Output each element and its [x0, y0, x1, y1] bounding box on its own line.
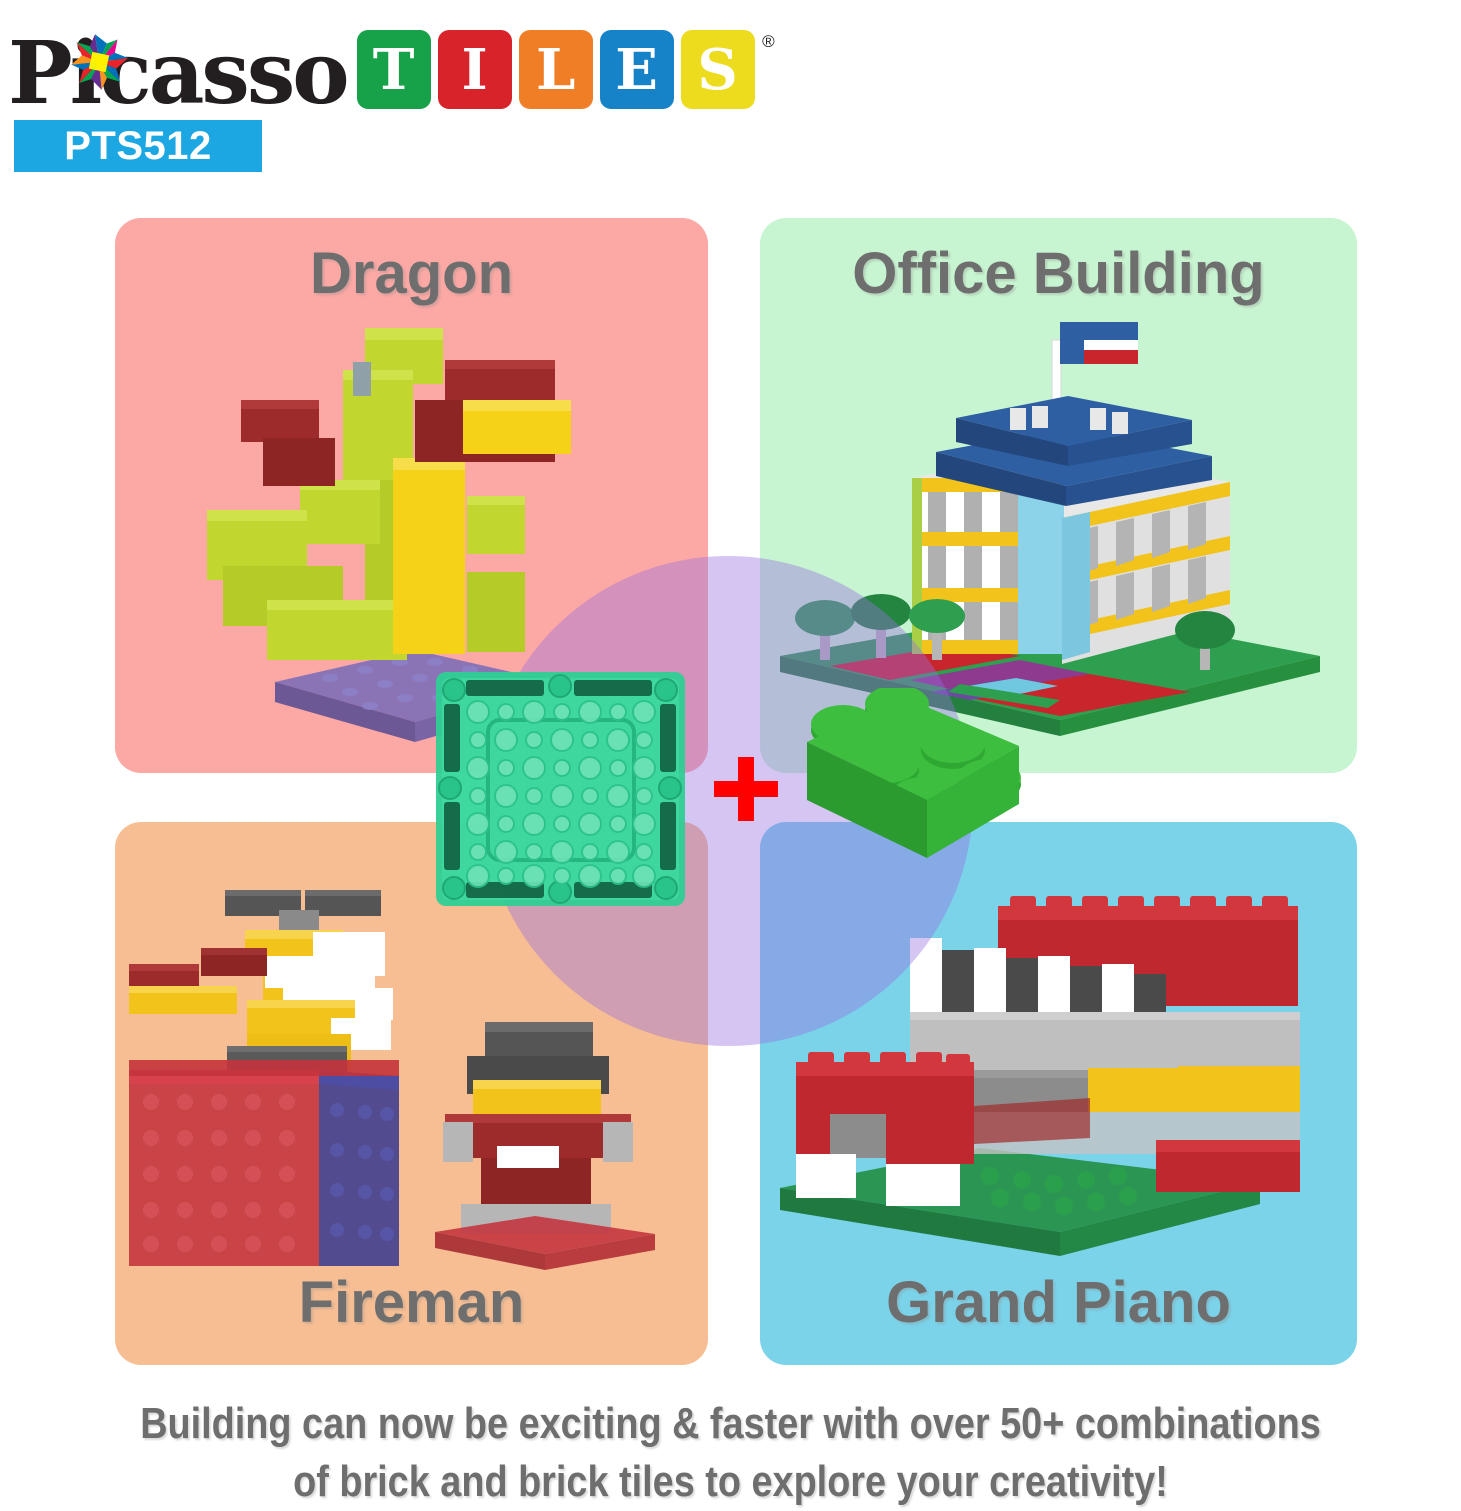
- tile-block-t: T: [357, 30, 431, 109]
- tile-letter-l: L: [536, 42, 575, 98]
- panel-office-building-label: Office Building: [760, 244, 1357, 304]
- tile-block-i: I: [438, 30, 512, 109]
- panel-grand-piano-label: Grand Piano: [760, 1273, 1357, 1333]
- promo-caption-line-1: Building can now be exciting & faster wi…: [102, 1395, 1358, 1453]
- plus-sign-icon: [712, 755, 780, 823]
- brand-header: Picasso T: [0, 0, 1461, 200]
- sku-code: PTS512: [64, 126, 212, 166]
- green-brick-2x3: [793, 688, 1033, 893]
- brand-logo: Picasso T: [8, 8, 755, 113]
- promo-caption-line-2: of brick and brick tiles to explore your…: [102, 1453, 1358, 1511]
- pinwheel-icon: [66, 29, 132, 95]
- brick-tile-baseplate: [432, 668, 689, 910]
- promo-caption: Building can now be exciting & faster wi…: [102, 1395, 1358, 1511]
- tile-block-s: S: [681, 30, 755, 109]
- registered-trademark-symbol: ®: [762, 32, 775, 52]
- picasso-wordmark-text: Picasso: [8, 23, 347, 124]
- tile-letter-t: T: [373, 42, 415, 98]
- tile-letter-e: E: [615, 42, 658, 98]
- sku-badge: PTS512: [14, 120, 262, 172]
- tile-block-l: L: [519, 30, 593, 109]
- tile-block-e: E: [600, 30, 674, 109]
- picasso-wordmark: Picasso: [8, 31, 347, 117]
- tiles-wordmark: T I L E S ®: [357, 30, 755, 113]
- tile-letter-s: S: [697, 42, 737, 98]
- tile-letter-i: I: [462, 42, 488, 98]
- panel-fireman-label: Fireman: [115, 1273, 708, 1333]
- panel-dragon-label: Dragon: [115, 244, 708, 304]
